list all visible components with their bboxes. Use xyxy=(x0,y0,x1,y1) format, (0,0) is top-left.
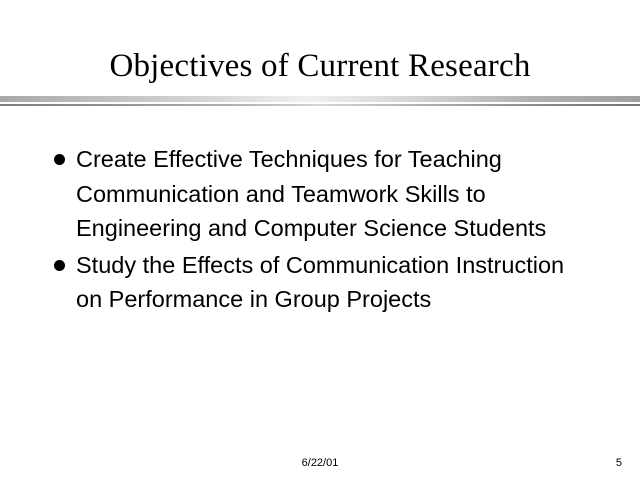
title-divider xyxy=(0,96,640,108)
list-item: Study the Effects of Communication Instr… xyxy=(52,248,572,317)
bullet-circle-icon xyxy=(54,154,65,165)
footer-page-number: 5 xyxy=(616,456,622,470)
list-item: Create Effective Techniques for Teaching… xyxy=(52,142,572,246)
footer-date: 6/22/01 xyxy=(0,456,640,470)
divider-gradient-band xyxy=(0,96,640,102)
presentation-slide: Objectives of Current Research Create Ef… xyxy=(0,0,640,480)
list-item-label: Study the Effects of Communication Instr… xyxy=(76,248,572,317)
page-title: Objectives of Current Research xyxy=(0,46,640,86)
list-item-label: Create Effective Techniques for Teaching… xyxy=(76,142,572,246)
divider-rule-line xyxy=(0,104,640,106)
bullet-circle-icon xyxy=(54,260,65,271)
title-area: Objectives of Current Research xyxy=(0,46,640,86)
bullet-list: Create Effective Techniques for Teaching… xyxy=(52,142,572,319)
